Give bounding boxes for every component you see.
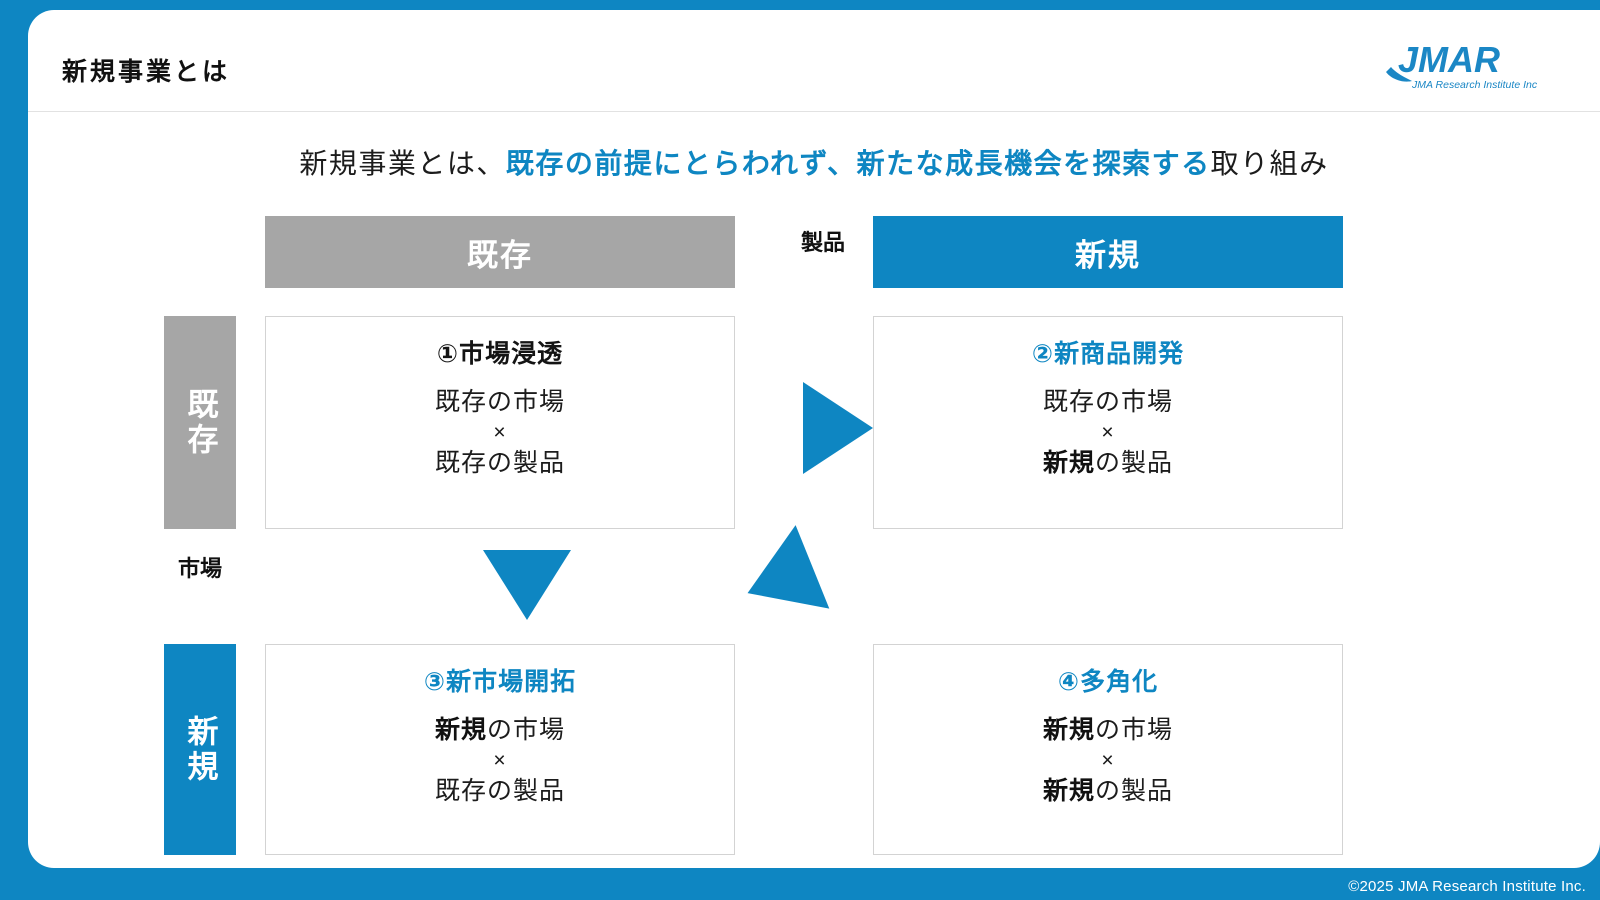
quadrant-body-4: 新規の市場 × 新規の製品: [1043, 713, 1173, 808]
axis-label-product: 製品: [773, 232, 873, 254]
row-header-new-label: 新規: [178, 715, 223, 785]
column-header-new: 新規: [873, 216, 1343, 288]
quadrant-2-market-suffix: の市場: [1095, 388, 1173, 416]
quadrant-4-market-suffix: の市場: [1095, 716, 1173, 744]
copyright-text: ©2025 JMA Research Institute Inc.: [1348, 878, 1586, 895]
quadrant-3-product-suffix: の製品: [487, 777, 565, 805]
column-header-existing: 既存: [265, 216, 735, 288]
quadrant-4-product-suffix: の製品: [1095, 777, 1173, 805]
quadrant-card-4[interactable]: ④多角化 新規の市場 × 新規の製品: [873, 644, 1343, 855]
row-header-existing-label: 既存: [178, 388, 223, 458]
quadrant-1-market-suffix: の市場: [487, 388, 565, 416]
quadrant-2-operator: ×: [1043, 419, 1173, 446]
row-header-new: 新規: [164, 644, 236, 855]
quadrant-3-market-prefix: 新規: [435, 716, 487, 744]
quadrant-2-market-prefix: 既存: [1043, 388, 1095, 416]
arrow-down-icon: [483, 550, 571, 620]
quadrant-2-product-suffix: の製品: [1095, 449, 1173, 477]
quadrant-title-3: ③新市場開拓: [424, 667, 576, 697]
quadrant-4-operator: ×: [1043, 747, 1173, 774]
quadrant-card-2[interactable]: ②新商品開発 既存の市場 × 新規の製品: [873, 316, 1343, 529]
slide-panel: 新規事業とは JMAR JMA Research Institute Inc 新…: [28, 10, 1600, 868]
quadrant-1-product-prefix: 既存: [435, 449, 487, 477]
quadrant-2-product-prefix: 新規: [1043, 449, 1095, 477]
quadrant-3-market-suffix: の市場: [487, 716, 565, 744]
quadrant-4-market-prefix: 新規: [1043, 716, 1095, 744]
quadrant-body-1: 既存の市場 × 既存の製品: [435, 385, 565, 480]
ansoff-matrix: 既存 製品 新規 既存 市場 新規 ①市場浸透 既存の市場 × 既存の製品: [28, 10, 1600, 868]
quadrant-title-1: ①市場浸透: [437, 339, 563, 369]
slide-footer: ©2025 JMA Research Institute Inc.: [0, 868, 1600, 900]
quadrant-title-4: ④多角化: [1058, 667, 1158, 697]
quadrant-3-product-prefix: 既存: [435, 777, 487, 805]
column-header-existing-label: 既存: [467, 230, 533, 275]
quadrant-4-product-prefix: 新規: [1043, 777, 1095, 805]
column-header-new-label: 新規: [1075, 230, 1141, 275]
quadrant-1-product-suffix: の製品: [487, 449, 565, 477]
arrow-diagonal-icon: [731, 525, 830, 635]
row-header-existing: 既存: [164, 316, 236, 529]
arrow-right-icon: [803, 382, 873, 474]
quadrant-body-3: 新規の市場 × 既存の製品: [435, 713, 565, 808]
quadrant-1-market-prefix: 既存: [435, 388, 487, 416]
axis-label-market: 市場: [164, 558, 236, 581]
quadrant-1-operator: ×: [435, 419, 565, 446]
quadrant-card-1[interactable]: ①市場浸透 既存の市場 × 既存の製品: [265, 316, 735, 529]
quadrant-3-operator: ×: [435, 747, 565, 774]
quadrant-body-2: 既存の市場 × 新規の製品: [1043, 385, 1173, 480]
slide-root: 新規事業とは JMAR JMA Research Institute Inc 新…: [0, 0, 1600, 900]
quadrant-card-3[interactable]: ③新市場開拓 新規の市場 × 既存の製品: [265, 644, 735, 855]
quadrant-title-2: ②新商品開発: [1032, 339, 1184, 369]
